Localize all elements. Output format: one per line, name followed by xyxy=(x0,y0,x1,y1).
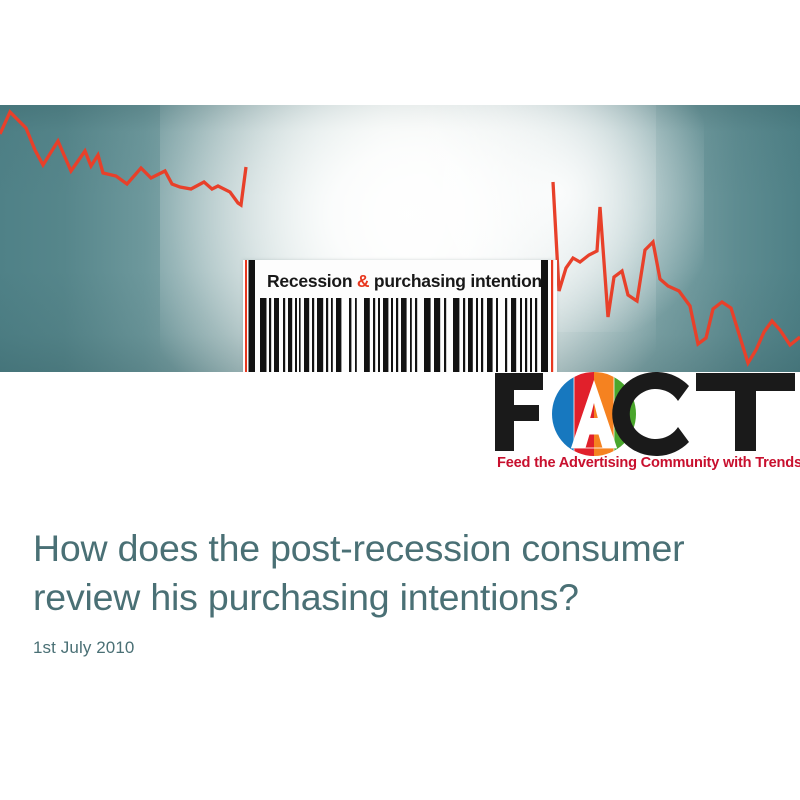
logo-tagline: Feed the Advertising Community with Tren… xyxy=(497,455,797,471)
barcode-label-after: purchasing intention xyxy=(369,271,542,291)
barcode-title-label: Recession & purchasing intention xyxy=(267,266,542,296)
slide-date: 1st July 2010 xyxy=(33,638,763,658)
title-block: How does the post-recession consumer rev… xyxy=(33,524,763,658)
fact-logo: Feed the Advertising Community with Tren… xyxy=(493,369,797,479)
barcode-label-ampersand: & xyxy=(357,271,369,291)
page-title: How does the post-recession consumer rev… xyxy=(33,524,763,622)
hero-banner: Recession & purchasing intention xyxy=(0,105,800,372)
slide-canvas: Recession & purchasing intention xyxy=(0,0,800,800)
logo-letter-f-icon xyxy=(495,373,543,451)
logo-letter-t-icon xyxy=(696,373,795,451)
barcode-label-before: Recession xyxy=(267,271,357,291)
barcode-graphic: Recession & purchasing intention xyxy=(243,260,557,372)
